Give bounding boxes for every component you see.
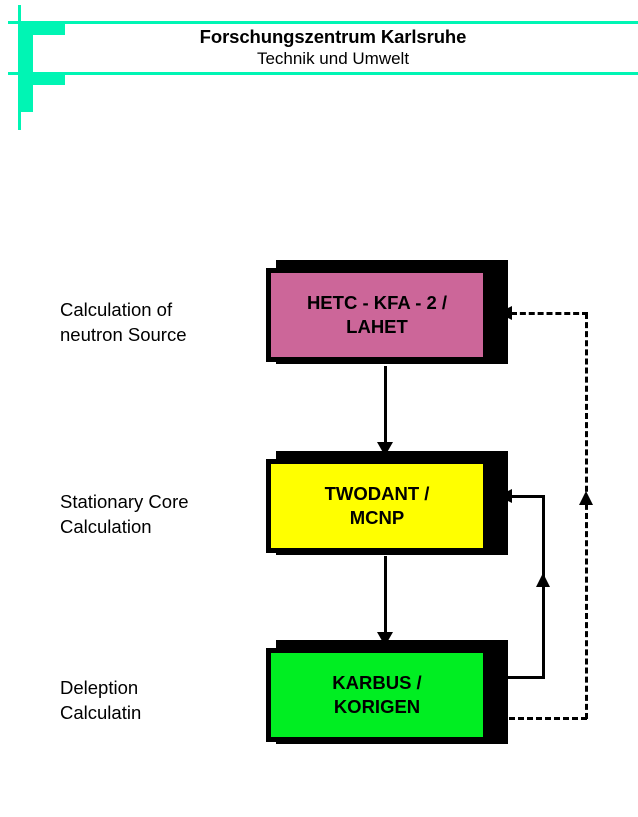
process-box-body: TWODANT / MCNP [266,459,488,553]
feedback-dashed-top-segment [511,312,588,315]
feedback-solid-vertical-segment [542,495,545,679]
feedback-dashed-mid-arrowhead [579,491,593,505]
feedback-solid-arrowhead-into-twodant [498,489,512,503]
process-box-label: HETC - KFA - 2 / LAHET [307,291,447,339]
feedback-dashed-arrowhead-into-hetc [498,306,512,320]
calculation-flow-diagram: Calculation of neutron Source Stationary… [0,0,638,817]
connector-twodant-to-karbus-arrowhead [377,632,393,646]
connector-hetc-to-twodant-arrowhead [377,442,393,456]
process-box-body: HETC - KFA - 2 / LAHET [266,268,488,362]
feedback-solid-bottom-segment [497,676,545,679]
feedback-dashed-bottom-segment [500,717,587,720]
stage-label-neutron-source: Calculation of neutron Source [60,297,187,347]
process-box-body: KARBUS / KORIGEN [266,648,488,742]
process-box-label: KARBUS / KORIGEN [332,671,421,719]
stage-label-depletion: Deleption Calculatin [60,675,141,725]
stage-label-stationary-core: Stationary Core Calculation [60,489,189,539]
connector-twodant-to-karbus-line [384,556,387,634]
feedback-solid-mid-arrowhead [536,573,550,587]
connector-hetc-to-twodant-line [384,366,387,444]
feedback-solid-top-segment [511,495,545,498]
slide-canvas: Forschungszentrum Karlsruhe Technik und … [0,0,638,817]
feedback-dashed-vertical-segment [585,313,588,719]
process-box-label: TWODANT / MCNP [325,482,430,530]
